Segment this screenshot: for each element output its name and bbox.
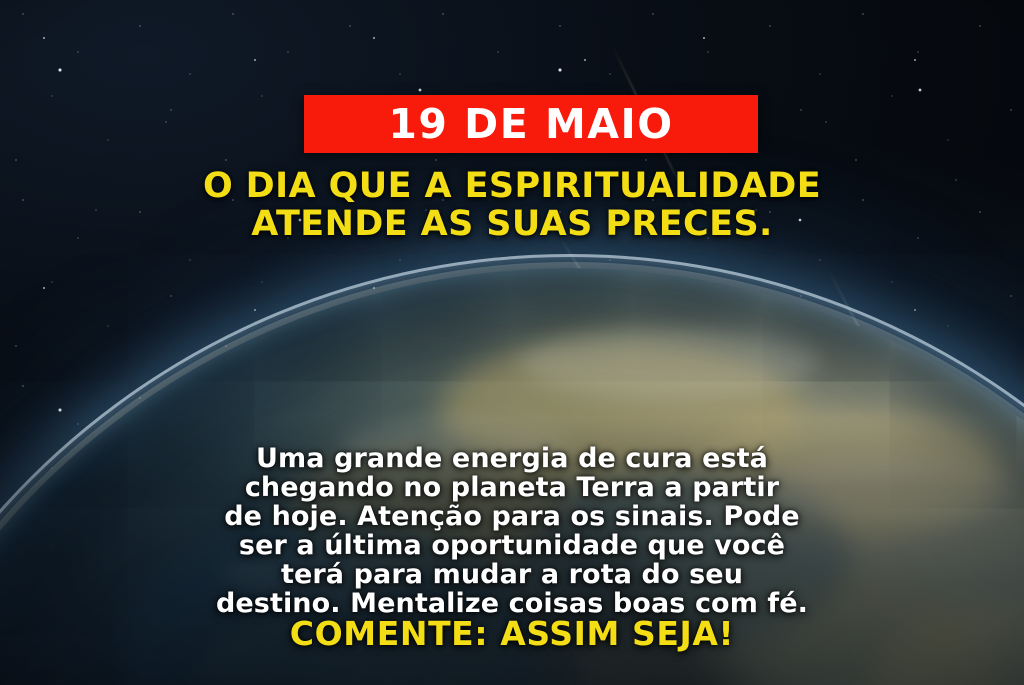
poster-canvas: 19 DE MAIO O DIA QUE A ESPIRITUALIDADE A… bbox=[0, 0, 1024, 685]
headline-line-1: O DIA QUE A ESPIRITUALIDADE bbox=[0, 167, 1024, 205]
body-line-2: chegando no planeta Terra a partir bbox=[52, 473, 972, 502]
body-line-3: de hoje. Atenção para os sinais. Pode bbox=[52, 502, 972, 531]
headline: O DIA QUE A ESPIRITUALIDADE ATENDE AS SU… bbox=[0, 167, 1024, 243]
body-line-4: ser a última oportunidade que você bbox=[52, 531, 972, 560]
body-line-5: terá para mudar a rota do seu bbox=[52, 560, 972, 589]
body-line-1: Uma grande energia de cura está bbox=[52, 444, 972, 473]
headline-line-2: ATENDE AS SUAS PRECES. bbox=[0, 205, 1024, 243]
body-copy: Uma grande energia de cura está chegando… bbox=[52, 444, 972, 618]
call-to-action-text: COMENTE: ASSIM SEJA! bbox=[0, 616, 1024, 652]
date-banner-text: 19 DE MAIO bbox=[388, 104, 673, 145]
date-banner: 19 DE MAIO bbox=[304, 95, 758, 153]
content-layer: 19 DE MAIO O DIA QUE A ESPIRITUALIDADE A… bbox=[0, 0, 1024, 685]
